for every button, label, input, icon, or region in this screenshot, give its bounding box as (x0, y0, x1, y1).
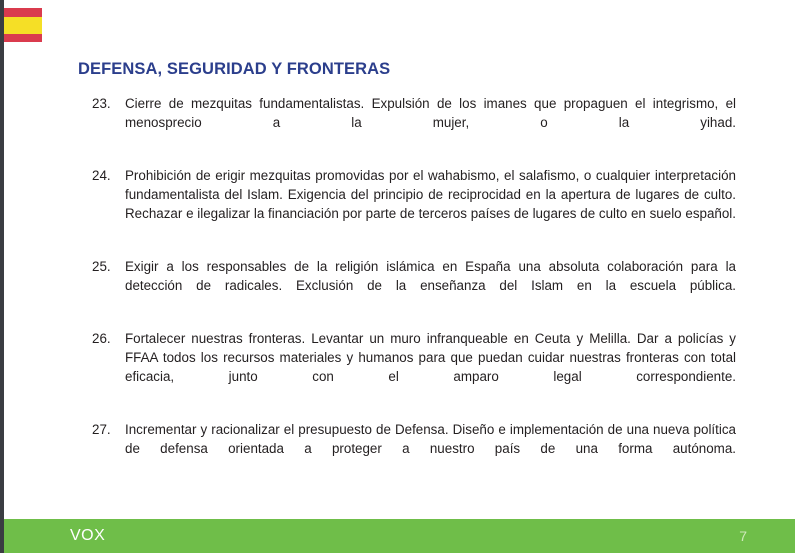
list-item: 23. Cierre de mezquitas fundamentalistas… (78, 94, 736, 151)
page-title: DEFENSA, SEGURIDAD Y FRONTERAS (78, 60, 736, 80)
numbered-proposal-list: 23. Cierre de mezquitas fundamentalistas… (78, 94, 736, 478)
flag-stripe-red-top (4, 8, 42, 17)
list-item: 27. Incrementar y racionalizar el presup… (78, 420, 736, 477)
list-item-text: Cierre de mezquitas fundamentalistas. Ex… (125, 94, 736, 151)
list-item-number: 23. (92, 94, 125, 113)
list-item-text: Exigir a los responsables de la religión… (125, 257, 736, 314)
flag-stripe-red-bottom (4, 34, 42, 43)
page-content: DEFENSA, SEGURIDAD Y FRONTERAS 23. Cierr… (78, 60, 736, 477)
page-number: 7 (739, 528, 747, 544)
list-item: 26. Fortalecer nuestras fronteras. Levan… (78, 329, 736, 405)
spain-flag-icon (4, 8, 42, 42)
list-item: 24. Prohibición de erigir mezquitas prom… (78, 166, 736, 242)
flag-stripe-yellow (4, 17, 42, 34)
vox-logo: VOX (70, 527, 105, 545)
list-item-text: Incrementar y racionalizar el presupuest… (125, 420, 736, 477)
list-item-number: 27. (92, 420, 125, 439)
list-item-text: Prohibición de erigir mezquitas promovid… (125, 166, 736, 242)
left-edge-rail (0, 0, 4, 553)
page-footer: VOX 7 (0, 519, 795, 553)
list-item-number: 26. (92, 329, 125, 348)
list-item-number: 25. (92, 257, 125, 276)
list-item-text: Fortalecer nuestras fronteras. Levantar … (125, 329, 736, 405)
list-item: 25. Exigir a los responsables de la reli… (78, 257, 736, 314)
list-item-number: 24. (92, 166, 125, 185)
